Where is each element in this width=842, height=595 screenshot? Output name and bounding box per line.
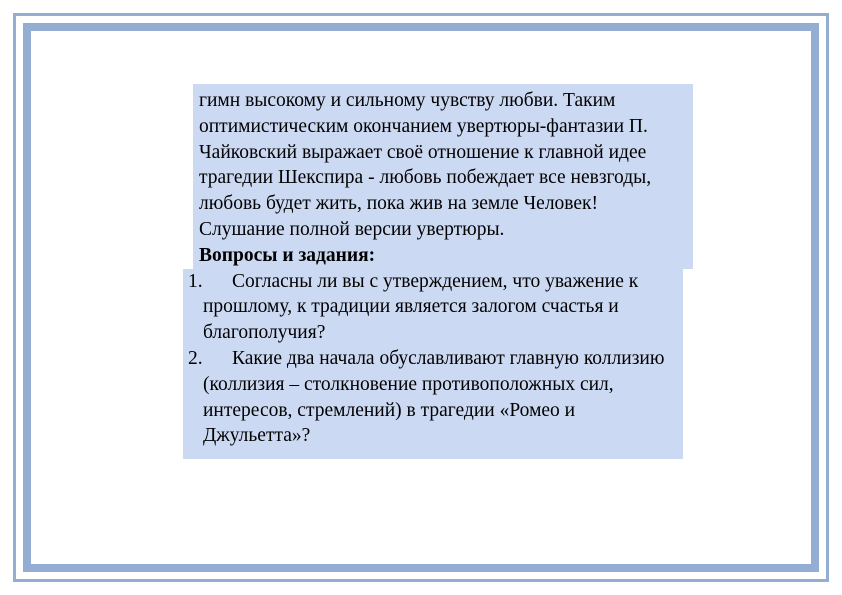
content-text-block: гимн высокому и сильному чувству любви. … xyxy=(183,84,683,459)
slide: гимн высокому и сильному чувству любви. … xyxy=(0,0,842,595)
body-paragraph-1: гимн высокому и сильному чувству любви. … xyxy=(193,84,693,217)
questions-heading: Вопросы и задания: xyxy=(193,243,693,269)
list-item-text: Какие два начала обуславливают главную к… xyxy=(203,346,673,449)
questions-list: 1. Согласны ли вы с утверждением, что ув… xyxy=(183,269,683,460)
list-item-number: 1. xyxy=(188,269,203,295)
list-item-text: Согласны ли вы с утверждением, что уваже… xyxy=(203,269,673,346)
list-item-number: 2. xyxy=(188,346,203,372)
list-item: 2. Какие два начала обуславливают главну… xyxy=(183,346,675,449)
body-paragraph-2: Слушание полной версии увертюры. xyxy=(193,217,693,243)
list-item: 1. Согласны ли вы с утверждением, что ув… xyxy=(183,269,675,346)
